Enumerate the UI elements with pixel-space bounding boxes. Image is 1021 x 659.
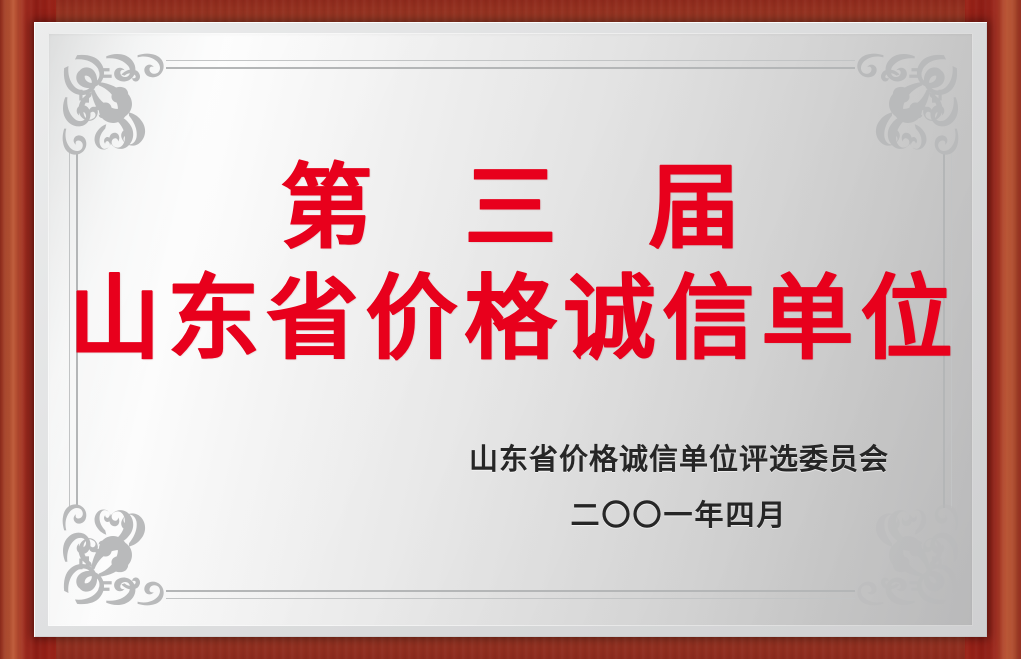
corner-flourish-icon-top-right xyxy=(851,53,959,161)
award-title: 第 三 届 山东省价格诚信单位 xyxy=(48,161,973,367)
rule-top-inner xyxy=(166,67,855,69)
award-plaque: 第 三 届 山东省价格诚信单位 山东省价格诚信单位评选委员会 二〇〇一年四月 xyxy=(0,0,1021,659)
corner-flourish-icon-top-left xyxy=(62,53,170,161)
signature-block: 山东省价格诚信单位评选委员会 二〇〇一年四月 xyxy=(469,436,889,534)
rule-top-outer xyxy=(166,60,855,61)
award-title-line-1: 第 三 届 xyxy=(48,161,973,255)
certificate-panel: 第 三 届 山东省价格诚信单位 山东省价格诚信单位评选委员会 二〇〇一年四月 xyxy=(48,33,973,626)
issue-date: 二〇〇一年四月 xyxy=(469,492,889,534)
rule-bottom-outer xyxy=(166,598,855,599)
issuing-organization: 山东省价格诚信单位评选委员会 xyxy=(469,436,889,478)
rule-bottom-inner xyxy=(166,590,855,592)
award-title-line-2: 山东省价格诚信单位 xyxy=(48,271,973,367)
corner-flourish-icon-bottom-left xyxy=(62,498,170,606)
